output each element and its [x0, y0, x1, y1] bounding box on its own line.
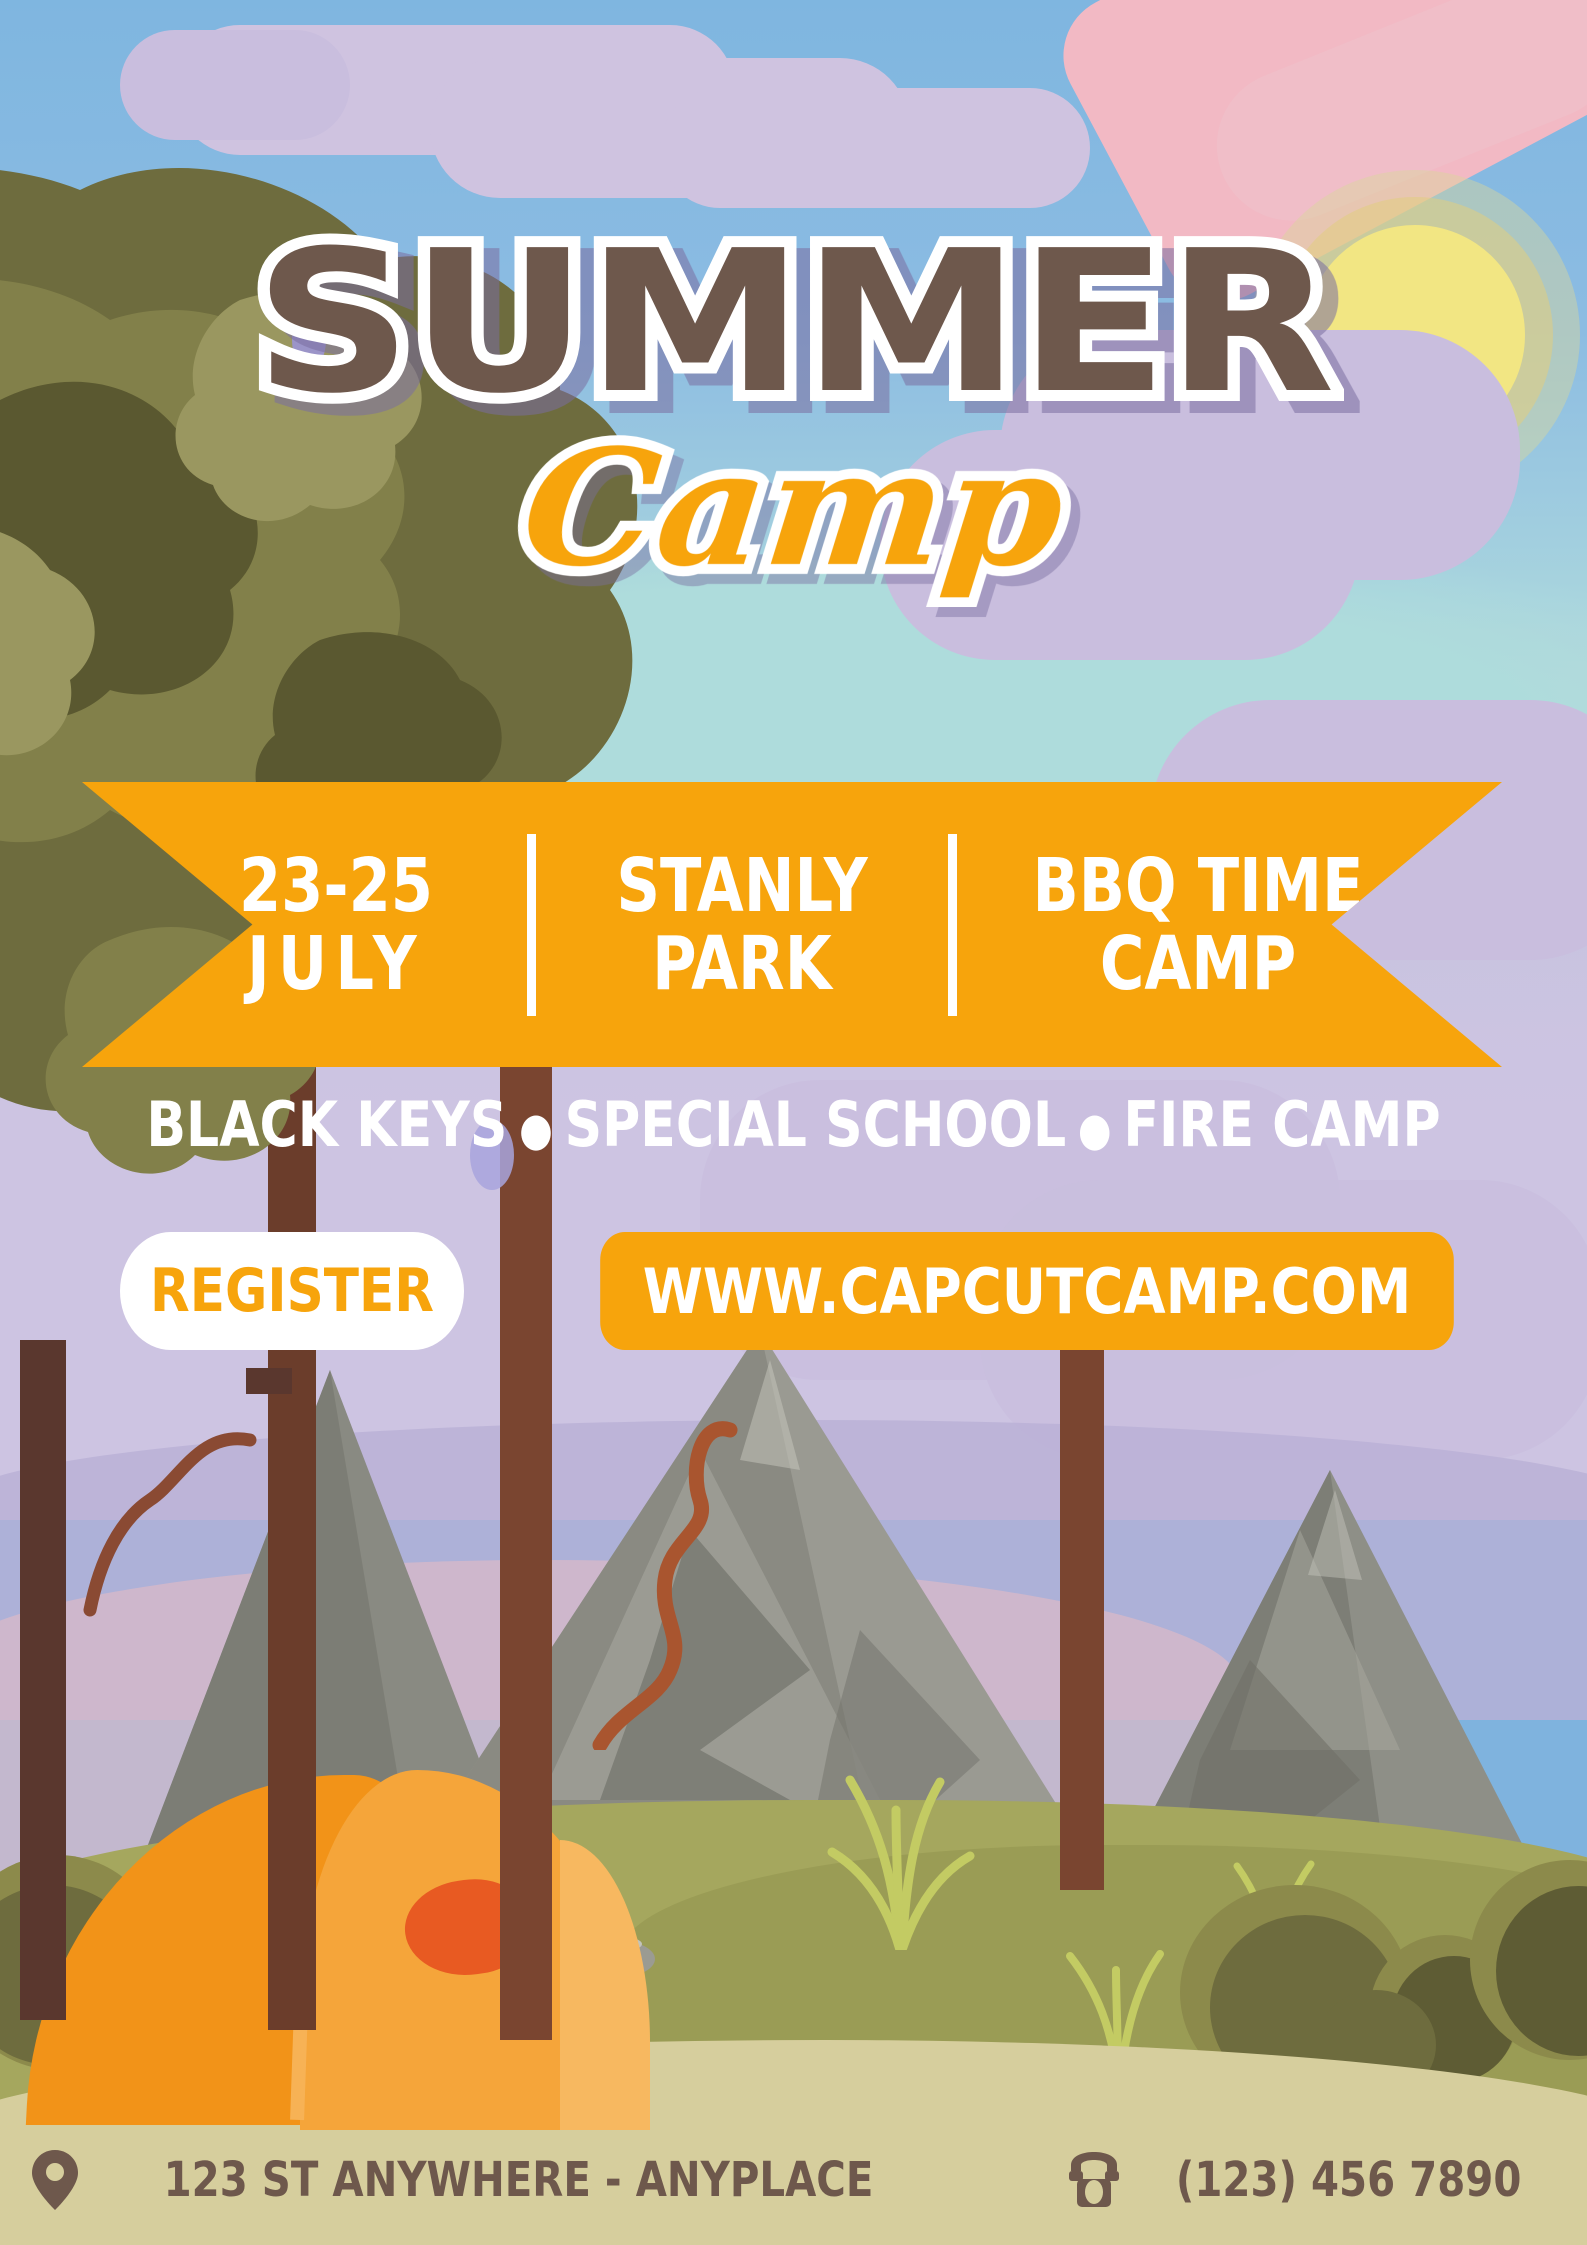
footer-address-text: 123 ST ANYWHERE - ANYPLACE [164, 2152, 874, 2208]
cta-row: REGISTER WWW.CAPCUTCAMP.COM [92, 1232, 1512, 1350]
feature-item-2: SPECIAL SCHOOL [565, 1088, 1067, 1161]
telephone-icon [1063, 2149, 1125, 2211]
ribbon-venue-line2: PARK [652, 925, 832, 1003]
footer-contact: 123 ST ANYWHERE - ANYPLACE (123) 456 789… [0, 2135, 1587, 2225]
ribbon-date-range: 23-25 [239, 847, 433, 925]
summer-camp-poster: SUMMER Camp 23-25 JULY STANLY PARK BBQ T… [0, 0, 1587, 2245]
feature-item-1: BLACK KEYS [146, 1088, 507, 1161]
register-button[interactable]: REGISTER [120, 1232, 464, 1350]
ribbon-activity-line2: CAMP [1100, 925, 1296, 1003]
ribbon-date-month: JULY [247, 925, 425, 1003]
ribbon-column-activity: BBQ TIME CAMP [1022, 847, 1375, 1003]
ribbon-venue-line1: STANLY [616, 847, 867, 925]
website-button[interactable]: WWW.CAPCUTCAMP.COM [600, 1232, 1454, 1350]
bullet-separator-1: ● [507, 1102, 564, 1156]
ribbon-activity-line1: BBQ TIME [1032, 847, 1363, 925]
footer-address-item: 123 ST ANYWHERE - ANYPLACE [32, 2150, 941, 2210]
event-details-ribbon: 23-25 JULY STANLY PARK BBQ TIME CAMP [82, 782, 1502, 1067]
footer-phone-text: (123) 456 7890 [1176, 2152, 1521, 2208]
footer-phone-item: (123) 456 7890 [1063, 2149, 1554, 2211]
ribbon-column-venue: STANLY PARK [594, 847, 889, 1003]
ribbon-divider-2 [948, 834, 957, 1016]
page-title: SUMMER [0, 225, 1587, 421]
page-subtitle-script: Camp [0, 428, 1587, 588]
feature-item-3: FIRE CAMP [1123, 1088, 1440, 1161]
features-line: BLACK KEYS●SPECIAL SCHOOL●FIRE CAMP [127, 1094, 1460, 1160]
location-pin-icon [32, 2150, 78, 2210]
ribbon-column-date: 23-25 JULY [201, 847, 472, 1003]
bullet-separator-2: ● [1066, 1102, 1123, 1156]
ribbon-divider-1 [527, 834, 536, 1016]
